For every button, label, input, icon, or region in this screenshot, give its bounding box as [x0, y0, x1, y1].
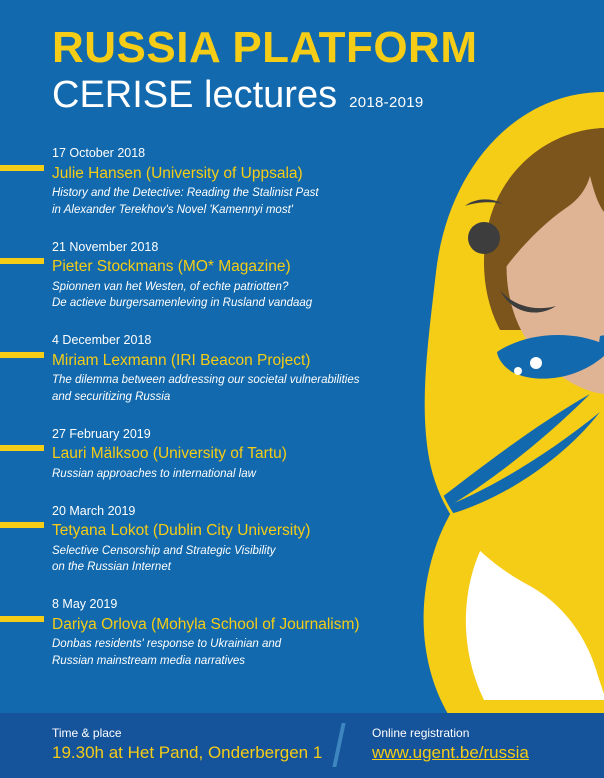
- lecture-item: 27 February 2019 Lauri Mälksoo (Universi…: [0, 427, 420, 483]
- lecture-topic: History and the Detective: Reading the S…: [52, 185, 420, 218]
- doll-body: [424, 415, 604, 714]
- registration-link[interactable]: www.ugent.be/russia: [372, 743, 529, 763]
- lecture-topic: Russian approaches to international law: [52, 466, 420, 483]
- registration-label: Online registration: [372, 726, 529, 742]
- lecture-item: 17 October 2018 Julie Hansen (University…: [0, 146, 420, 219]
- lecture-topic-line: Spionnen van het Westen, of echte patrio…: [52, 279, 420, 296]
- lecture-topic-line: Russian approaches to international law: [52, 466, 420, 483]
- lecture-dash-marker: [0, 616, 44, 622]
- lecture-date: 8 May 2019: [52, 597, 420, 613]
- lecture-topic-line: in Alexander Terekhov's Novel 'Kamennyi …: [52, 202, 420, 219]
- lecture-dash-marker: [0, 445, 44, 451]
- lecture-topic: Donbas residents' response to Ukrainian …: [52, 636, 420, 669]
- lecture-speaker: Pieter Stockmans (MO* Magazine): [52, 258, 420, 277]
- lecture-speaker: Julie Hansen (University of Uppsala): [52, 165, 420, 184]
- lecture-item: 20 March 2019 Tetyana Lokot (Dublin City…: [0, 504, 420, 577]
- footer-registration: Online registration www.ugent.be/russia: [372, 726, 529, 763]
- lecture-item: 4 December 2018 Miriam Lexmann (IRI Beac…: [0, 333, 420, 406]
- lecture-topic-line: Donbas residents' response to Ukrainian …: [52, 636, 420, 653]
- lecture-topic-line: Selective Censorship and Strategic Visib…: [52, 543, 420, 560]
- lecture-item: 8 May 2019 Dariya Orlova (Mohyla School …: [0, 597, 420, 670]
- time-place-value: 19.30h at Het Pand, Onderbergen 1: [52, 743, 322, 763]
- lecture-topic-line: and securitizing Russia: [52, 389, 420, 406]
- lecture-topic-line: History and the Detective: Reading the S…: [52, 185, 420, 202]
- lecture-date: 27 February 2019: [52, 427, 420, 443]
- doll-hair: [484, 128, 604, 330]
- lecture-topic-line: Russian mainstream media narratives: [52, 653, 420, 670]
- lecture-speaker: Dariya Orlova (Mohyla School of Journali…: [52, 616, 420, 635]
- lecture-speaker: Miriam Lexmann (IRI Beacon Project): [52, 352, 420, 371]
- poster: RUSSIA PLATFORM CERISE lectures 2018-201…: [0, 0, 604, 778]
- lecture-speaker: Lauri Mälksoo (University of Tartu): [52, 445, 420, 464]
- page-title: RUSSIA PLATFORM: [52, 26, 477, 70]
- doll-smile: [500, 290, 556, 313]
- lecture-list: 17 October 2018 Julie Hansen (University…: [0, 146, 420, 691]
- lecture-topic: The dilemma between addressing our socie…: [52, 372, 420, 405]
- lecture-dash-marker: [0, 352, 44, 358]
- footer-slash-divider: [332, 723, 345, 767]
- lecture-topic: Selective Censorship and Strategic Visib…: [52, 543, 420, 576]
- lecture-dash-marker: [0, 165, 44, 171]
- year-range: 2018-2019: [349, 94, 423, 111]
- time-place-label: Time & place: [52, 726, 322, 742]
- doll-group: [424, 92, 604, 714]
- lecture-date: 20 March 2019: [52, 504, 420, 520]
- lecture-dash-marker: [0, 258, 44, 264]
- lecture-topic-line: De actieve burgersamenleving in Rusland …: [52, 295, 420, 312]
- lecture-dash-marker: [0, 522, 44, 528]
- doll-fringe: [496, 128, 604, 278]
- title-block: RUSSIA PLATFORM CERISE lectures 2018-201…: [52, 26, 477, 114]
- footer-band: Time & place 19.30h at Het Pand, Onderbe…: [0, 713, 604, 778]
- doll-headscarf: [425, 92, 604, 694]
- lecture-date: 17 October 2018: [52, 146, 420, 162]
- lecture-topic-line: on the Russian Internet: [52, 559, 420, 576]
- doll-face: [507, 148, 604, 394]
- lecture-date: 21 November 2018: [52, 240, 420, 256]
- lecture-date: 4 December 2018: [52, 333, 420, 349]
- lecture-topic: Spionnen van het Westen, of echte patrio…: [52, 279, 420, 312]
- lecture-topic-line: The dilemma between addressing our socie…: [52, 372, 420, 389]
- doll-floral-motifs: [425, 335, 604, 518]
- lecture-speaker: Tetyana Lokot (Dublin City University): [52, 522, 420, 541]
- doll-eye: [468, 222, 500, 254]
- doll-eyebrow: [465, 199, 503, 206]
- subtitle-row: CERISE lectures 2018-2019: [52, 76, 477, 114]
- footer-time-place: Time & place 19.30h at Het Pand, Onderbe…: [52, 726, 322, 763]
- lecture-item: 21 November 2018 Pieter Stockmans (MO* M…: [0, 240, 420, 313]
- page-subtitle: CERISE lectures: [52, 76, 337, 114]
